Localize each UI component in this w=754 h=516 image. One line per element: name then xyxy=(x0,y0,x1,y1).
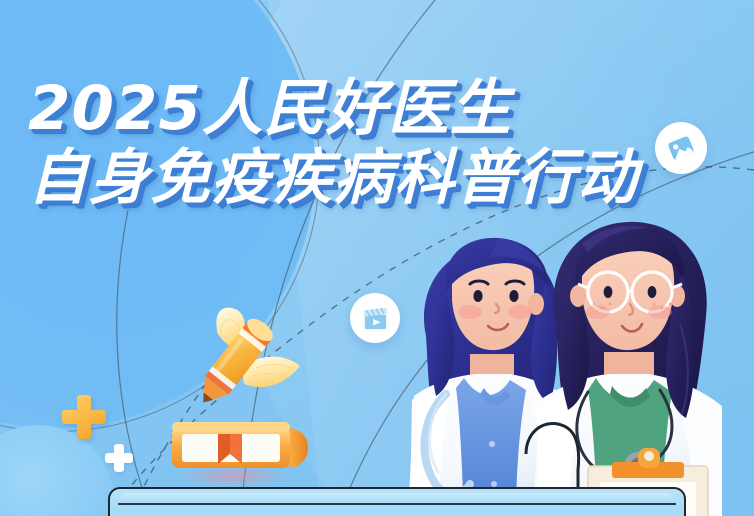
plus-icon xyxy=(62,395,106,439)
plus-icon-bar-vertical xyxy=(77,395,91,439)
rounded-blue-panel xyxy=(108,487,686,516)
page-title: 2025人民好医生 自身免疫疾病科普行动 xyxy=(28,76,638,212)
movie-clapperboard-icon xyxy=(360,303,391,334)
video-badge xyxy=(350,293,400,343)
winged-pencil-and-book-illustration xyxy=(160,300,330,490)
panel-top-highlight xyxy=(120,493,674,502)
two-female-doctors-illustration-icon xyxy=(398,218,754,516)
two-female-doctors-illustration xyxy=(398,218,754,516)
image-badge xyxy=(655,122,707,174)
plus-icon xyxy=(105,444,133,472)
winged-pencil-and-book-icon xyxy=(160,300,330,490)
page-title-line-1: 2025人民好医生 xyxy=(28,76,638,142)
panel-divider xyxy=(118,503,676,505)
poster-banner: 2025人民好医生 自身免疫疾病科普行动 xyxy=(0,0,754,516)
image-icon xyxy=(665,132,697,164)
plus-icon-bar-vertical xyxy=(114,444,124,472)
page-title-line-2: 自身免疫疾病科普行动 xyxy=(28,144,638,212)
